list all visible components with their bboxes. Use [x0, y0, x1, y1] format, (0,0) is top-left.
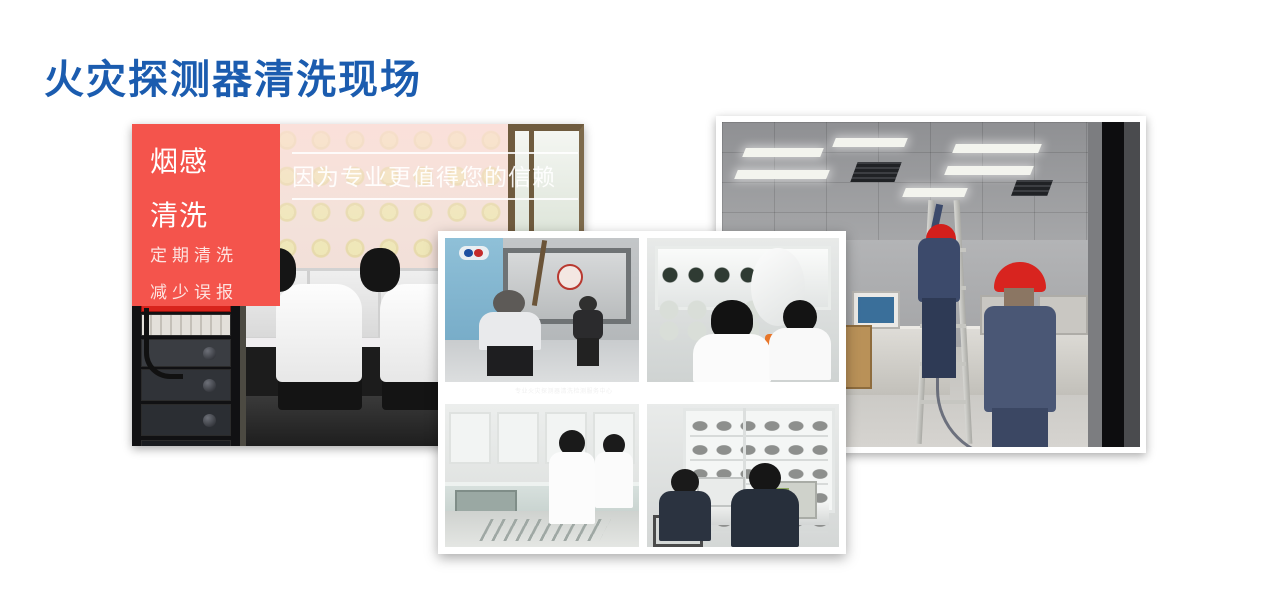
seated-worker	[659, 469, 711, 541]
worker-with-red-helmet	[970, 262, 1066, 447]
photo-center-collage: 专业火灾探测器清洗检测服务中心	[438, 231, 846, 554]
badge-sub-line2: 减少误报	[150, 279, 280, 306]
ceiling-light	[944, 166, 1034, 175]
slogan-text: 因为专业更值得您的信赖	[292, 160, 578, 194]
slogan-rule-top	[292, 152, 578, 154]
desktop-computer	[852, 291, 900, 329]
red-badge-panel: 烟感 清洗 定期清洗 减少误报	[132, 124, 280, 306]
door-frame	[1088, 122, 1140, 447]
collage-grid: 专业火灾探测器清洗检测服务中心	[445, 238, 839, 547]
collage-cell-bottom-right	[647, 404, 839, 547]
ceiling-light	[742, 148, 824, 157]
seated-worker	[731, 463, 799, 547]
ceiling-light	[832, 138, 908, 147]
lab-technician	[693, 300, 771, 382]
company-logo	[459, 246, 489, 260]
lab-technician	[769, 300, 831, 380]
worker-on-ladder	[898, 188, 968, 378]
ceiling-light	[952, 144, 1042, 153]
badge-headline-line1: 烟感	[150, 146, 280, 178]
lab-technician	[549, 430, 595, 541]
photo-collage-stage: 因为专业更值得您的信赖 烟感 清洗 定期清洗 减少误报	[0, 0, 1280, 615]
cable	[144, 308, 183, 379]
badge-headline-line2: 清洗	[150, 200, 280, 232]
ceiling-vent	[1011, 180, 1053, 196]
wall-emblem	[557, 264, 583, 290]
collage-cell-top-right	[647, 238, 839, 382]
collage-cell-top-left	[445, 238, 639, 382]
lab-technician	[595, 434, 633, 508]
slogan-block: 因为专业更值得您的信赖	[292, 152, 578, 200]
collage-watermark: 专业火灾探测器清洗检测服务中心	[515, 386, 765, 395]
badge-sub-line1: 定期清洗	[150, 242, 280, 269]
collage-cell-bottom-left	[445, 404, 639, 547]
person	[571, 296, 605, 366]
slogan-rule-bottom	[292, 198, 578, 200]
ceiling-light	[734, 170, 830, 179]
ceiling-vent	[850, 162, 901, 182]
person	[479, 290, 541, 376]
